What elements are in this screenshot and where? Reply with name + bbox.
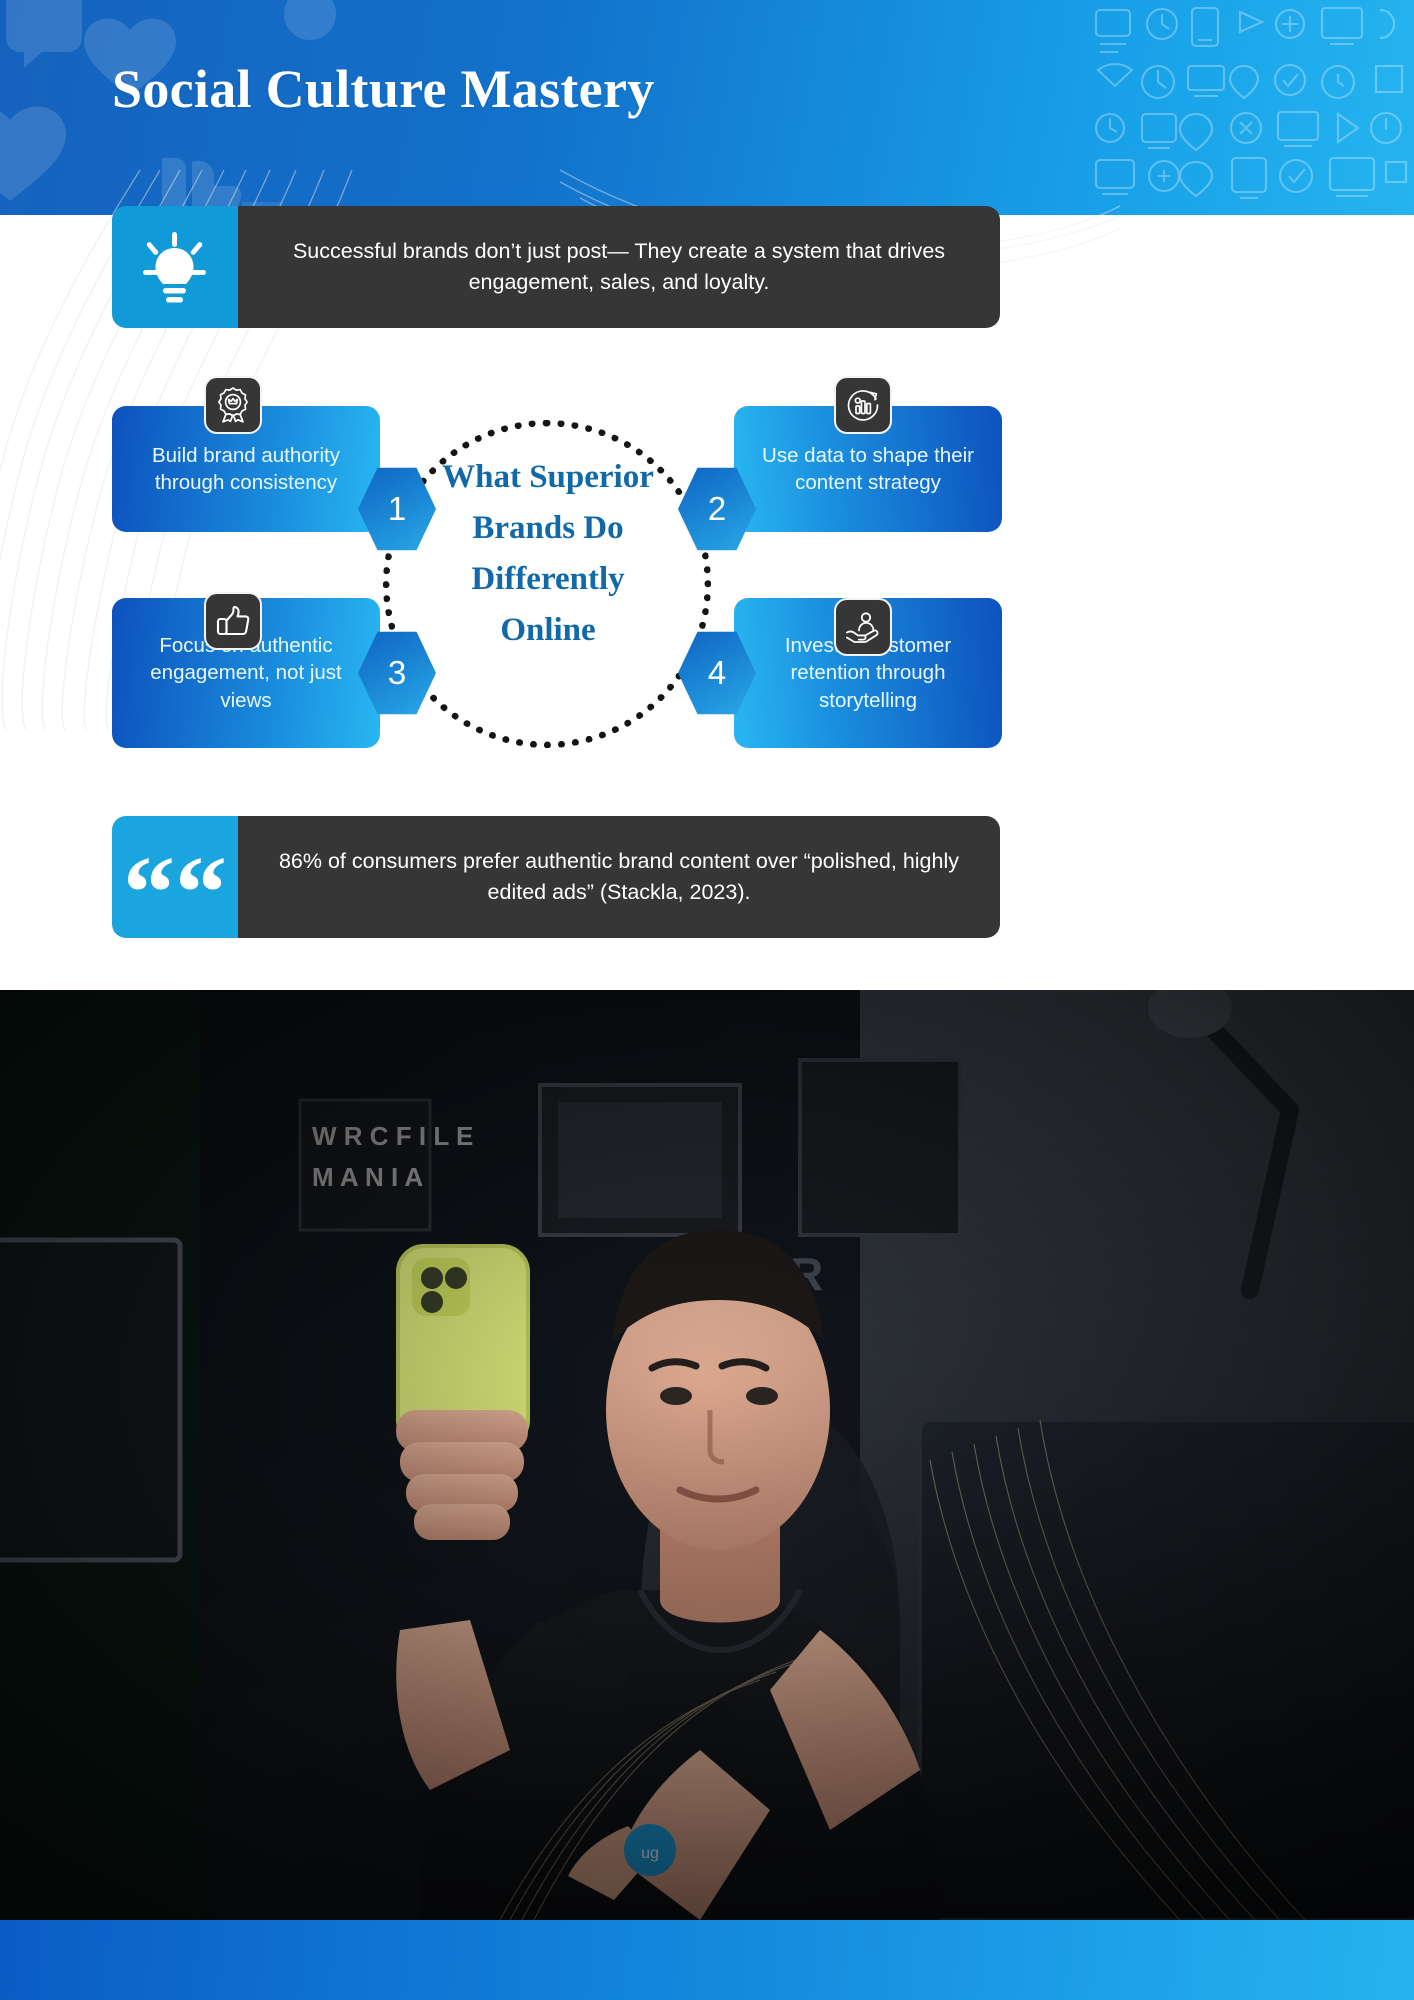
- quote-banner: ““ 86% of consumers prefer authentic bra…: [112, 816, 1000, 938]
- quote-body: 86% of consumers prefer authentic brand …: [238, 816, 1000, 938]
- diagram-card-1-label: Build brand authority through consistenc…: [138, 442, 354, 497]
- diagram-center-title: What Superior Brands Do Differently Onli…: [430, 452, 666, 657]
- customer-care-icon: [845, 611, 881, 643]
- diagram-step-1-number: 1: [358, 466, 436, 552]
- callout-banner: Successful brands don’t just post— They …: [112, 206, 1000, 328]
- thumbs-up-icon-tile: [204, 592, 262, 650]
- data-analytics-icon-tile: [834, 376, 892, 434]
- award-badge-icon-tile: [204, 376, 262, 434]
- footer-bar: [0, 1920, 1414, 2000]
- award-badge-icon: [215, 386, 251, 424]
- callout-body: Successful brands don’t just post— They …: [238, 206, 1000, 328]
- callout-text: Successful brands don’t just post— They …: [272, 236, 966, 297]
- tech-icons-pattern-icon: [1084, 0, 1414, 215]
- quote-icon-tile: ““: [112, 816, 238, 938]
- lightbulb-icon: [141, 230, 209, 304]
- photo-section: W R C F I L E M A N I A R: [0, 990, 1414, 1920]
- data-analytics-icon: [845, 387, 881, 423]
- page-title: Social Culture Mastery: [112, 58, 655, 120]
- man-holding-phone-photo: W R C F I L E M A N I A R: [0, 990, 1414, 1920]
- customer-care-icon-tile: [834, 598, 892, 656]
- quote-text: 86% of consumers prefer authentic brand …: [276, 846, 962, 907]
- diagram-step-3-number: 3: [358, 630, 436, 716]
- thumbs-up-icon: [216, 605, 250, 637]
- diagram-area: What Superior Brands Do Differently Onli…: [0, 360, 1414, 780]
- step-4-label: 4: [708, 654, 726, 692]
- diagram-step-2-number: 2: [678, 466, 756, 552]
- infographic-page: Social Culture Mastery: [0, 0, 1414, 2000]
- callout-icon-tile: [112, 206, 238, 328]
- step-1-label: 1: [388, 490, 406, 528]
- diagram-card-2-label: Use data to shape their content strategy: [760, 442, 976, 497]
- step-3-label: 3: [388, 654, 406, 692]
- step-2-label: 2: [708, 490, 726, 528]
- diagram-step-4-number: 4: [678, 630, 756, 716]
